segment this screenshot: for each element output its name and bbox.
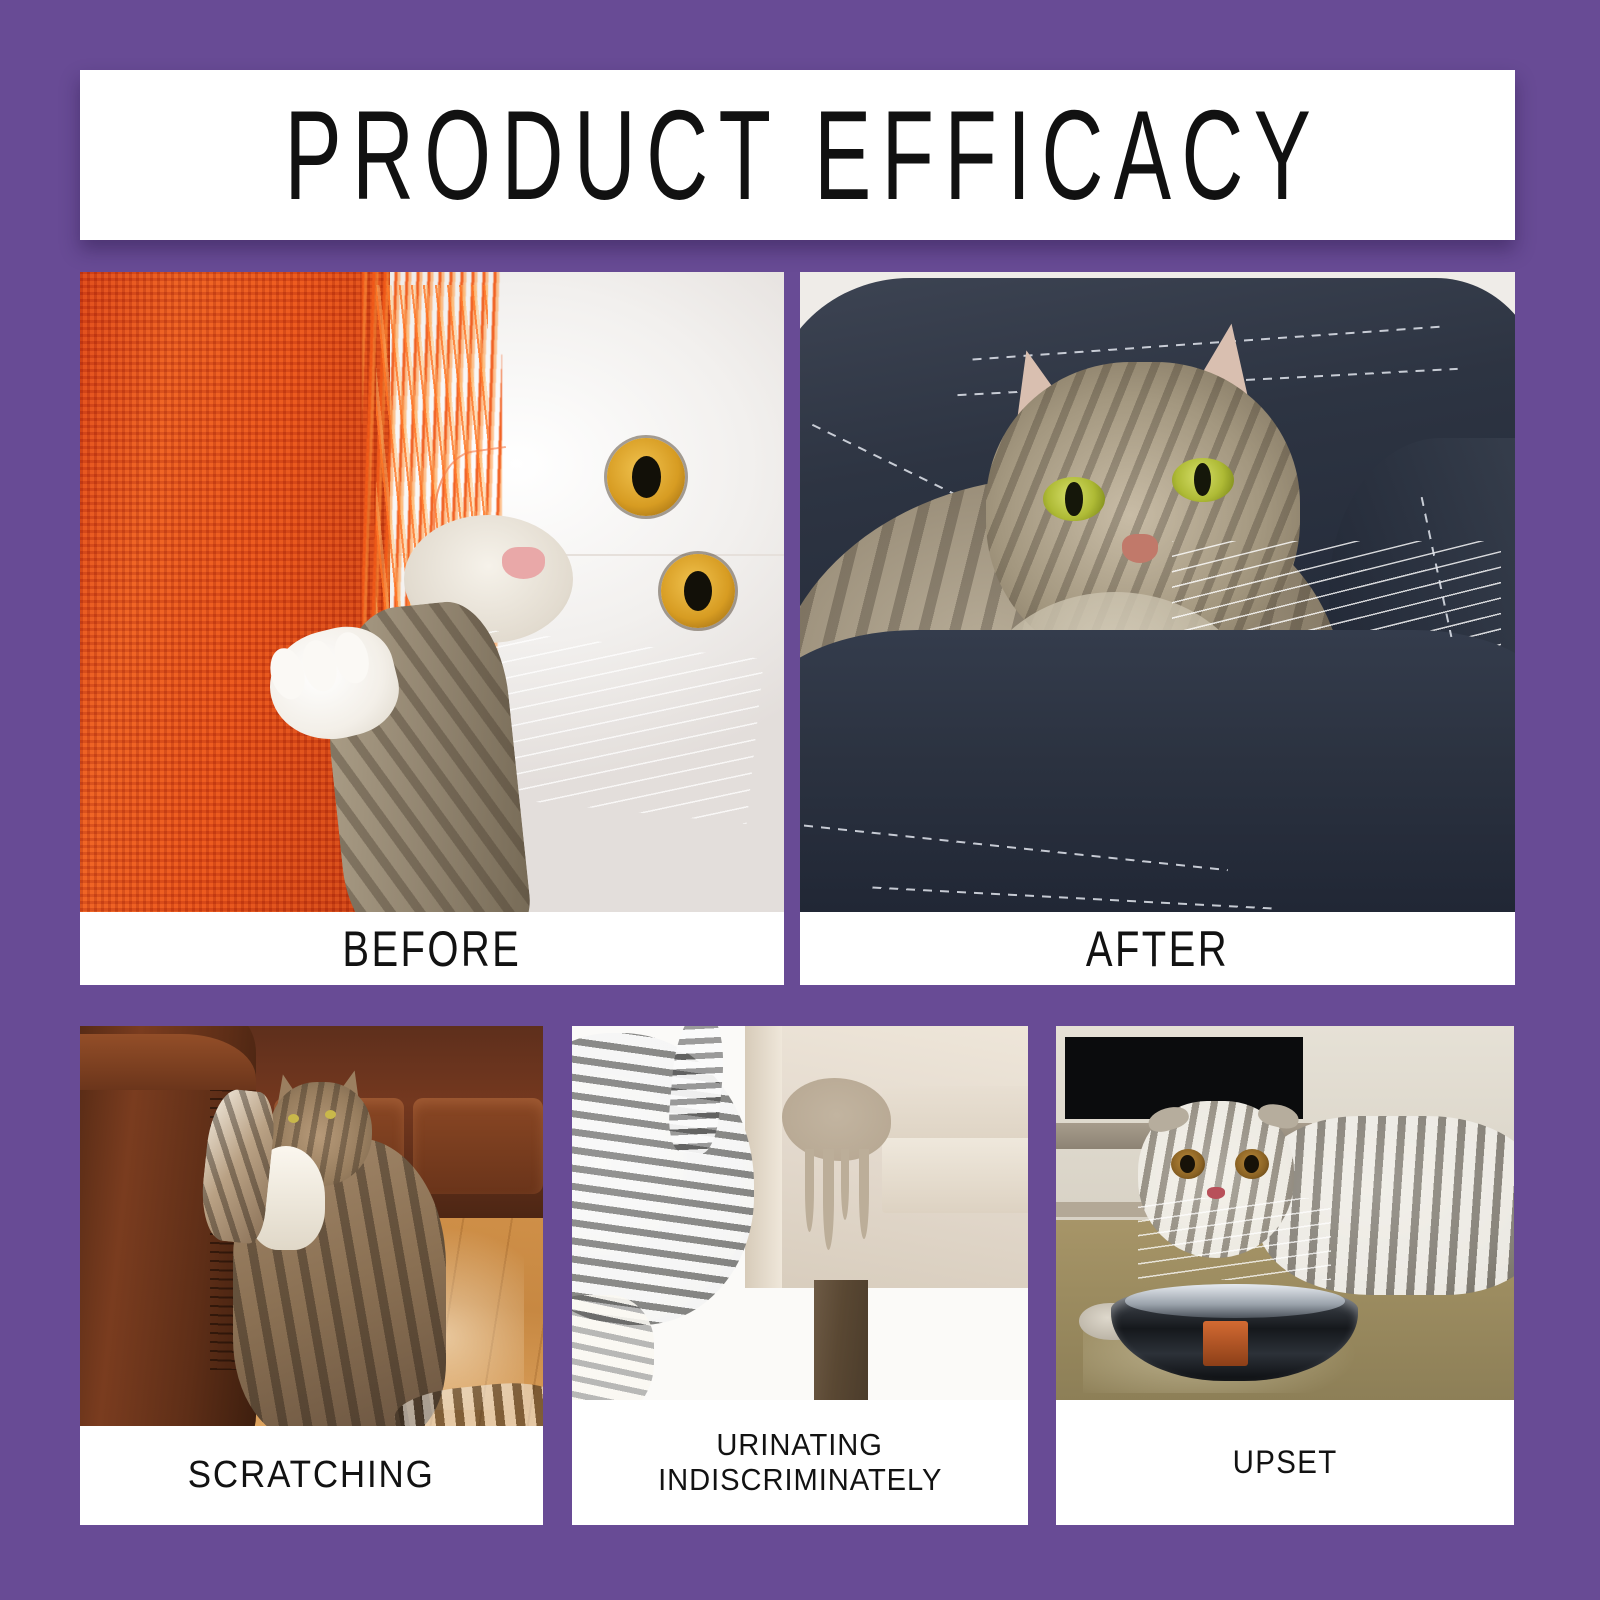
photo-cat-urinating-sofa [572, 1026, 1028, 1400]
poster-canvas: PRODUCT EFFICACY BEFORE [0, 0, 1600, 1600]
title-bar: PRODUCT EFFICACY [80, 70, 1515, 240]
photo-after-cat-in-bed [800, 272, 1515, 912]
panel-upset[interactable]: UPSET [1056, 1026, 1514, 1525]
caption-after-line: AFTER [1086, 921, 1229, 977]
caption-upset-line-1: UPSET [1232, 1445, 1337, 1481]
photo-upset-cat-bowl [1056, 1026, 1514, 1400]
photo-before-scratching-fabric [80, 272, 784, 912]
caption-urinating: URINATING INDISCRIMINATELY [572, 1400, 1028, 1525]
panel-urinating[interactable]: URINATING INDISCRIMINATELY [572, 1026, 1028, 1525]
caption-scratching: SCRATCHING [80, 1426, 543, 1525]
caption-urinating-line-1: URINATING [717, 1428, 884, 1463]
page-title: PRODUCT EFFICACY [274, 91, 1321, 219]
photo-cat-scratching-sofa [80, 1026, 543, 1426]
caption-before: BEFORE [80, 912, 784, 985]
caption-before-line: BEFORE [343, 921, 522, 977]
caption-after: AFTER [800, 912, 1515, 985]
caption-scratching-line-1: SCRATCHING [188, 1454, 435, 1497]
panel-before[interactable]: BEFORE [80, 272, 784, 985]
panel-scratching[interactable]: SCRATCHING [80, 1026, 543, 1525]
caption-upset: UPSET [1056, 1400, 1514, 1525]
caption-urinating-line-2: INDISCRIMINATELY [658, 1463, 942, 1498]
panel-after[interactable]: AFTER [800, 272, 1515, 985]
